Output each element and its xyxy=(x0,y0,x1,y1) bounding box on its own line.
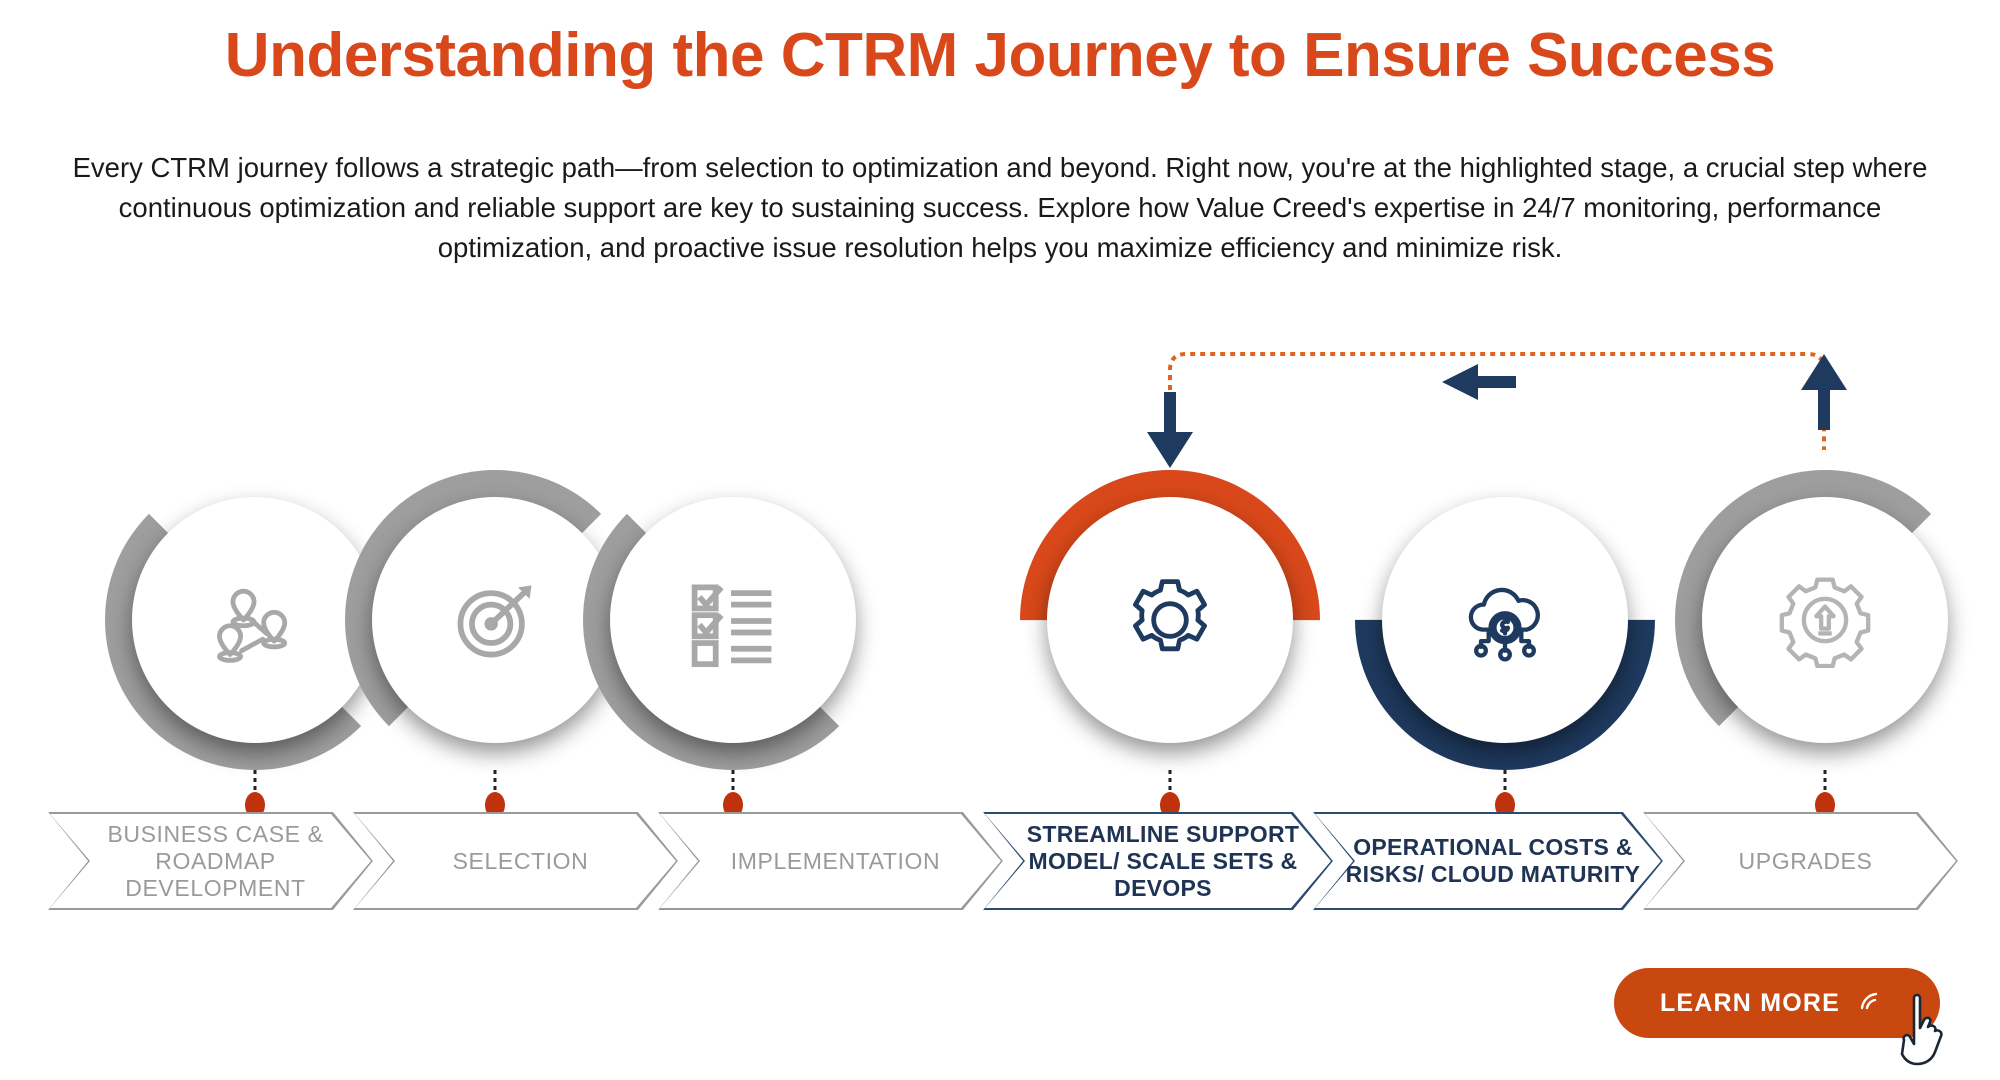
upgrade-gear-icon xyxy=(1777,572,1873,668)
stage-label-text: IMPLEMENTATION xyxy=(701,848,960,875)
learn-more-button[interactable]: LEARN MORE xyxy=(1614,968,1940,1038)
roadmap-pins-icon xyxy=(207,572,303,668)
stage-label-upgrades[interactable]: UPGRADES xyxy=(1643,812,1958,910)
up-arrow-icon xyxy=(1801,354,1847,430)
stage-circle-implementation[interactable] xyxy=(583,470,883,770)
page-title: Understanding the CTRM Journey to Ensure… xyxy=(0,20,2000,91)
infographic-page: Understanding the CTRM Journey to Ensure… xyxy=(0,0,2000,1080)
hand-pointer-icon xyxy=(1900,990,1962,1068)
page-subtitle: Every CTRM journey follows a strategic p… xyxy=(60,148,1940,268)
stage-icon-wrap xyxy=(132,497,378,743)
learn-more-label: LEARN MORE xyxy=(1660,989,1840,1018)
stage-label-selection[interactable]: SELECTION xyxy=(353,812,678,910)
stage-label-text: UPGRADES xyxy=(1709,848,1893,875)
stage-label-text: OPERATIONAL COSTS & RISKS/ CLOUD MATURIT… xyxy=(1313,834,1663,888)
stage-label-business-case-roadmap-development[interactable]: BUSINESS CASE & ROADMAP DEVELOPMENT xyxy=(48,812,373,910)
stage-label-implementation[interactable]: IMPLEMENTATION xyxy=(658,812,1003,910)
target-arrow-icon xyxy=(447,572,543,668)
stage-icon-wrap xyxy=(610,497,856,743)
stage-icon-wrap xyxy=(1702,497,1948,743)
gear-icon xyxy=(1122,572,1218,668)
cloud-dollar-icon xyxy=(1457,572,1553,668)
click-wave-icon xyxy=(1854,988,1884,1018)
stage-circle-operational-costs-risks-cloud-maturity[interactable] xyxy=(1355,470,1655,770)
checklist-icon xyxy=(685,572,781,668)
stage-label-band: BUSINESS CASE & ROADMAP DEVELOPMENT SELE… xyxy=(48,812,1958,910)
stage-icon-wrap xyxy=(372,497,618,743)
stage-label-text: SELECTION xyxy=(423,848,609,875)
stage-circle-upgrades[interactable] xyxy=(1675,470,1975,770)
stage-label-operational-costs-risks-cloud-maturity[interactable]: OPERATIONAL COSTS & RISKS/ CLOUD MATURIT… xyxy=(1313,812,1663,910)
stage-label-streamline-support-model-scale-sets-devops[interactable]: STREAMLINE SUPPORT MODEL/ SCALE SETS & D… xyxy=(983,812,1333,910)
stage-circles-row xyxy=(0,470,2000,800)
stage-icon-wrap xyxy=(1382,497,1628,743)
down-arrow-icon xyxy=(1147,392,1193,468)
stage-icon-wrap xyxy=(1047,497,1293,743)
stage-label-text: BUSINESS CASE & ROADMAP DEVELOPMENT xyxy=(48,821,373,902)
left-arrow-icon xyxy=(1442,364,1516,400)
stage-circle-streamline-support-model-scale-sets-devops[interactable] xyxy=(1020,470,1320,770)
stage-label-text: STREAMLINE SUPPORT MODEL/ SCALE SETS & D… xyxy=(983,821,1333,902)
